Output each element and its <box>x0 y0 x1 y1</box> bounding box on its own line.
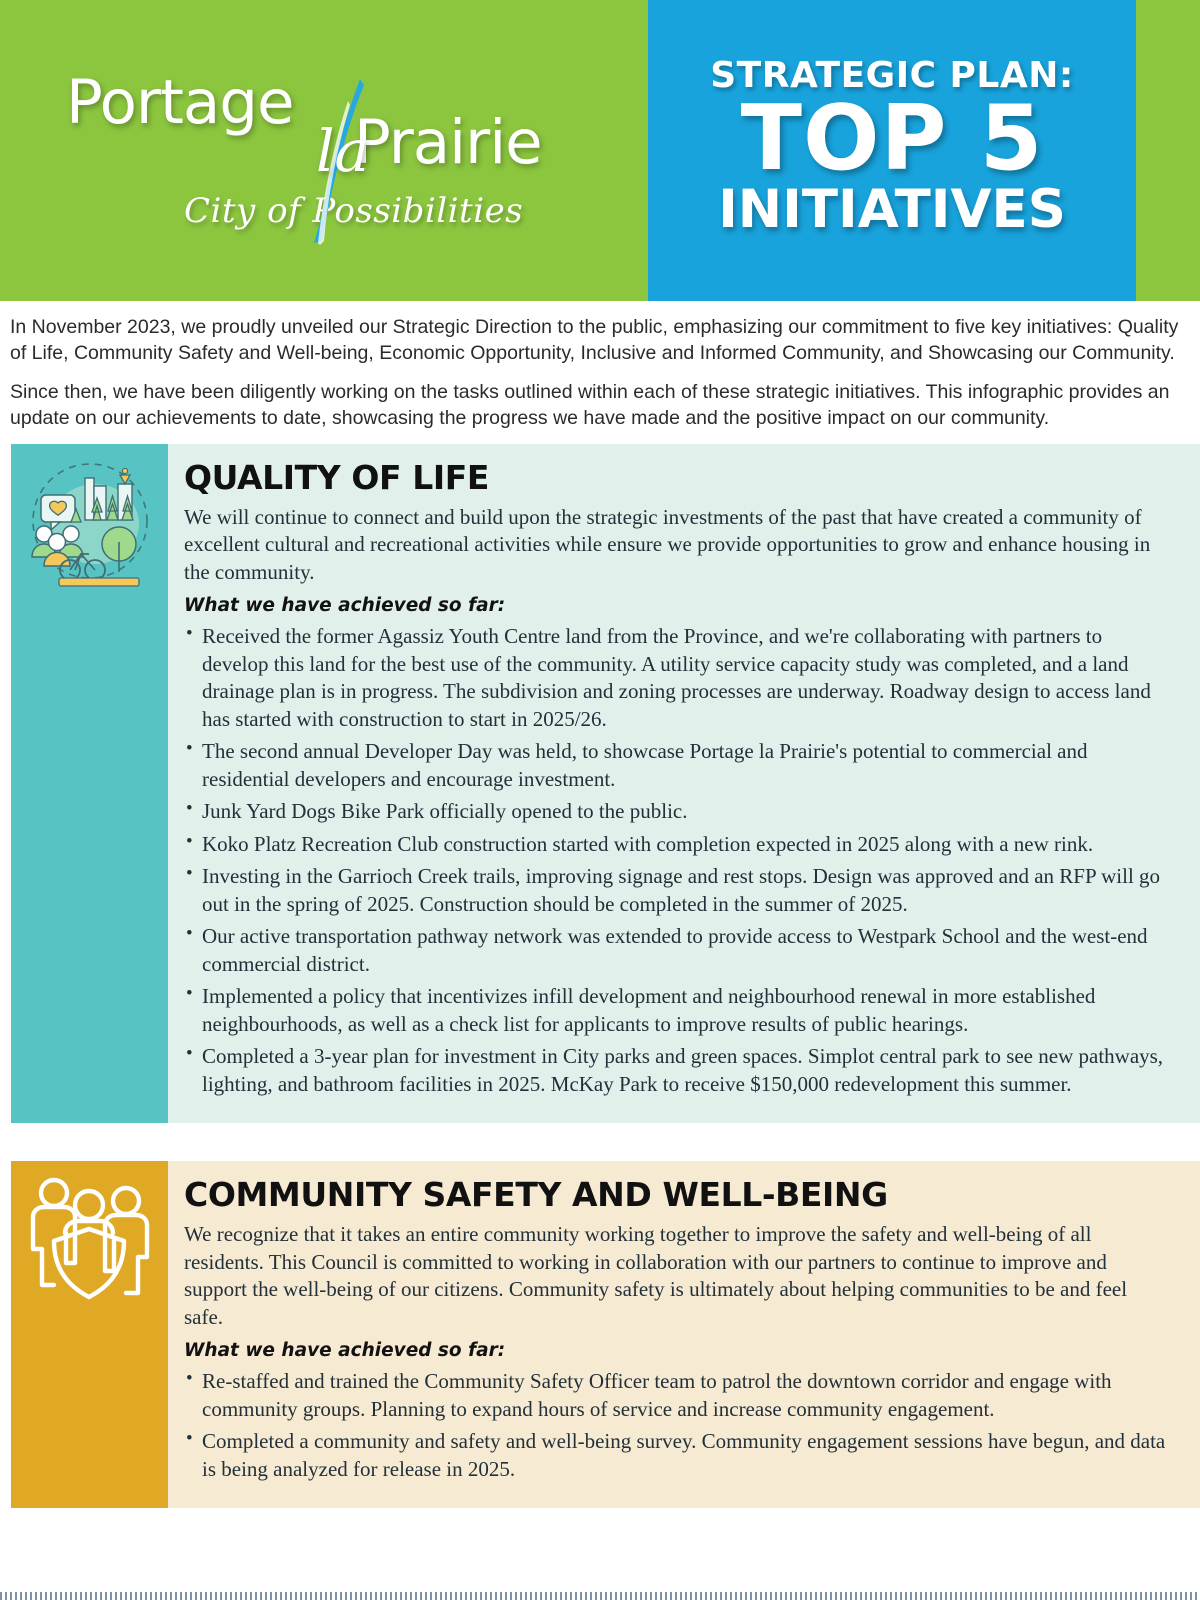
section-community-safety-and-well-being: COMMUNITY SAFETY AND WELL-BEING We recog… <box>11 1161 1200 1508</box>
list-item: Implemented a policy that incentivizes i… <box>184 983 1168 1038</box>
section-body-quality-of-life: QUALITY OF LIFE We will continue to conn… <box>168 444 1200 1124</box>
list-item: Junk Yard Dogs Bike Park officially open… <box>184 798 1168 826</box>
banner-line-top5: TOP 5 <box>741 96 1044 182</box>
bottom-dotted-border <box>0 1592 1200 1600</box>
list-item: Completed a 3-year plan for investment i… <box>184 1043 1168 1098</box>
community-park-illustration-icon <box>23 454 157 588</box>
list-item: Received the former Agassiz Youth Centre… <box>184 623 1168 733</box>
section-achieved-label: What we have achieved so far: <box>184 1340 1168 1361</box>
section-body-community-safety: COMMUNITY SAFETY AND WELL-BEING We recog… <box>168 1161 1200 1508</box>
list-item: Completed a community and safety and wel… <box>184 1428 1168 1483</box>
list-item: Investing in the Garrioch Creek trails, … <box>184 863 1168 918</box>
section-description: We recognize that it takes an entire com… <box>184 1221 1168 1331</box>
section-achieved-label: What we have achieved so far: <box>184 595 1168 616</box>
section-divider-gap <box>0 1123 1200 1161</box>
section-description: We will continue to connect and build up… <box>184 504 1168 587</box>
logo-word-la: la <box>316 117 369 185</box>
section-achievements-list: Re-staffed and trained the Community Saf… <box>184 1368 1168 1483</box>
section-icon-panel-community-safety <box>11 1161 168 1508</box>
section-title: COMMUNITY SAFETY AND WELL-BEING <box>184 1175 1168 1214</box>
intro-paragraph-1: In November 2023, we proudly unveiled ou… <box>10 315 1188 367</box>
city-logo: Portage la Prairie City of Possibilities <box>44 41 604 271</box>
list-item: The second annual Developer Day was held… <box>184 738 1168 793</box>
section-title: QUALITY OF LIFE <box>184 458 1168 497</box>
section-icon-panel-quality-of-life <box>11 444 168 1124</box>
list-item: Re-staffed and trained the Community Saf… <box>184 1368 1168 1423</box>
logo-word-portage: Portage <box>66 67 294 138</box>
banner-line-initiatives: INITIATIVES <box>718 183 1066 237</box>
logo-word-prairie: Prairie <box>354 107 542 178</box>
section-achievements-list: Received the former Agassiz Youth Centre… <box>184 623 1168 1098</box>
infographic-page: Portage la Prairie City of Possibilities… <box>0 0 1200 1600</box>
list-item: Koko Platz Recreation Club construction … <box>184 831 1168 859</box>
people-with-shield-icon <box>25 1171 155 1301</box>
intro-text-block: In November 2023, we proudly unveiled ou… <box>0 301 1200 444</box>
list-item: Our active transportation pathway networ… <box>184 923 1168 978</box>
intro-paragraph-2: Since then, we have been diligently work… <box>10 380 1188 432</box>
logo-panel: Portage la Prairie City of Possibilities <box>0 0 648 301</box>
header-green-accent-strip <box>1136 0 1200 301</box>
page-header: Portage la Prairie City of Possibilities… <box>0 0 1200 301</box>
banner-panel: STRATEGIC PLAN: TOP 5 INITIATIVES <box>648 0 1136 301</box>
section-quality-of-life: QUALITY OF LIFE We will continue to conn… <box>11 444 1200 1124</box>
